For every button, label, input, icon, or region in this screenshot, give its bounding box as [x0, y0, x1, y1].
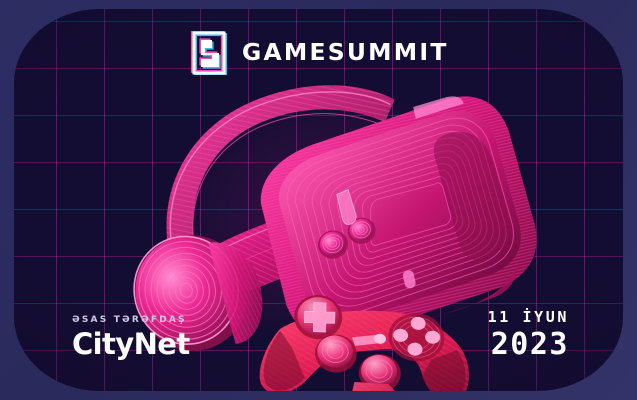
main-partner-logo-citynet: CityNet	[72, 330, 190, 359]
event-date-year: 2023	[488, 330, 569, 360]
event-promo-poster: GAMESUMMIT ƏSAS TƏRƏFDAŞ CityNet 11 İYUN…	[0, 0, 637, 400]
crt-screen: GAMESUMMIT ƏSAS TƏRƏFDAŞ CityNet 11 İYUN…	[14, 9, 623, 391]
main-partner-kicker: ƏSAS TƏRƏFDAŞ	[72, 315, 190, 325]
main-partner-block: ƏSAS TƏRƏFDAŞ CityNet	[72, 315, 190, 359]
event-date-block: 11 İYUN 2023	[488, 310, 569, 360]
event-date-day: 11 İYUN	[488, 310, 569, 325]
gamesummit-wordmark: GAMESUMMIT	[242, 42, 449, 65]
brand-header: GAMESUMMIT	[14, 31, 623, 75]
gamesummit-s-mark-icon	[190, 31, 230, 75]
